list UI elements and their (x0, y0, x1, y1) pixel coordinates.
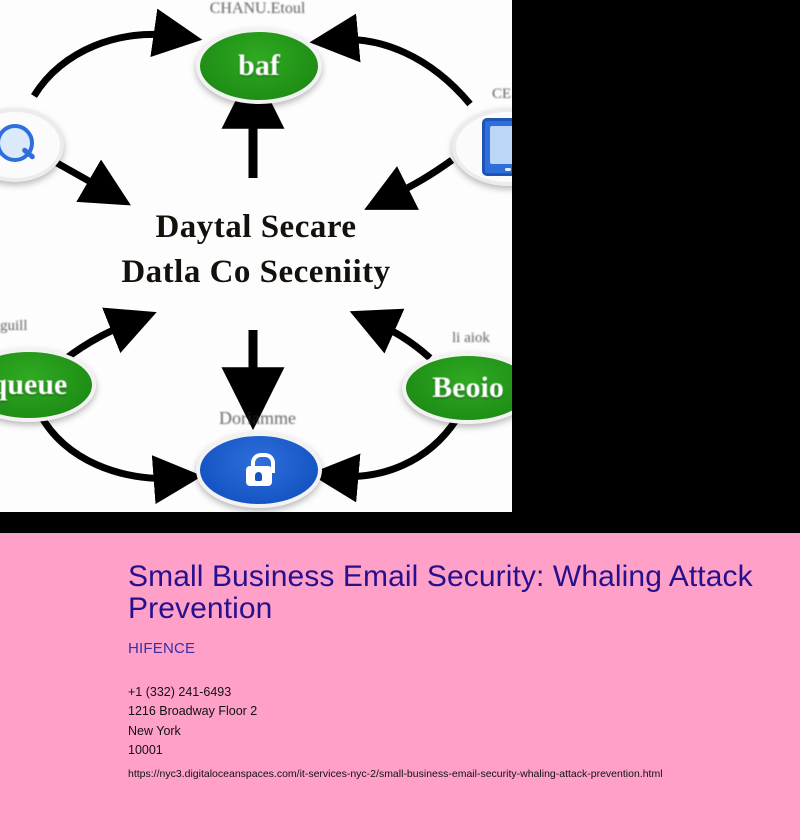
address-zip: 10001 (128, 741, 760, 760)
diagram-center-text: Daytal Secare Datla Co Seceniity (0, 205, 512, 294)
node-bottom-lock (196, 432, 322, 508)
address-line-1: 1216 Broadway Floor 2 (128, 702, 760, 721)
node-top-green: baf (196, 28, 322, 104)
arrow-lefttop-to-top (34, 34, 176, 96)
info-panel-content: Small Business Email Security: Whaling A… (128, 561, 760, 780)
node-right-green: Beoio (402, 352, 512, 424)
arrow-righttop-to-center (388, 160, 452, 198)
arrow-righttop-to-top (336, 40, 470, 104)
node-right-bottom-label: Beoio (432, 371, 504, 405)
arrow-leftbottom-to-center (64, 322, 132, 360)
node-left-green: queue (0, 348, 96, 422)
node-left-bottom-label: queue (0, 368, 67, 402)
page-title: Small Business Email Security: Whaling A… (128, 561, 760, 626)
diagram-canvas: CHANU.Etoul CE guill li aiok Doriamme Da… (0, 0, 512, 512)
caption-top-node: CHANU.Etoul (190, 0, 325, 18)
contact-block: +1 (332) 241-6493 1216 Broadway Floor 2 … (128, 683, 760, 761)
search-icon (0, 122, 38, 168)
tablet-icon (482, 118, 512, 176)
caption-right-bottom-node: li aiok (452, 330, 490, 347)
node-magnifier (0, 108, 64, 182)
caption-left-bottom-node: guill (0, 318, 28, 335)
node-tablet (452, 108, 512, 186)
source-url: https://nyc3.digitaloceanspaces.com/it-s… (128, 768, 760, 780)
diagram-center-line1: Daytal Secare (155, 209, 356, 245)
brand-name: HIFENCE (128, 640, 760, 657)
arrow-rightbottom-to-center (374, 322, 430, 358)
lock-icon (244, 453, 274, 487)
diagram-image: CHANU.Etoul CE guill li aiok Doriamme Da… (0, 0, 512, 512)
address-city: New York (128, 722, 760, 741)
arrow-rightbottom-to-bottom (336, 420, 456, 477)
info-panel: Small Business Email Security: Whaling A… (0, 533, 800, 840)
node-top-label: baf (238, 49, 280, 83)
caption-right-top-node: CE (492, 86, 511, 103)
diagram-center-line2: Datla Co Seceniity (0, 250, 512, 295)
phone-number: +1 (332) 241-6493 (128, 683, 760, 702)
screenshot-root: CHANU.Etoul CE guill li aiok Doriamme Da… (0, 0, 800, 840)
caption-bottom-node: Doriamme (195, 408, 320, 429)
arrow-leftbottom-to-bottom (40, 414, 176, 478)
